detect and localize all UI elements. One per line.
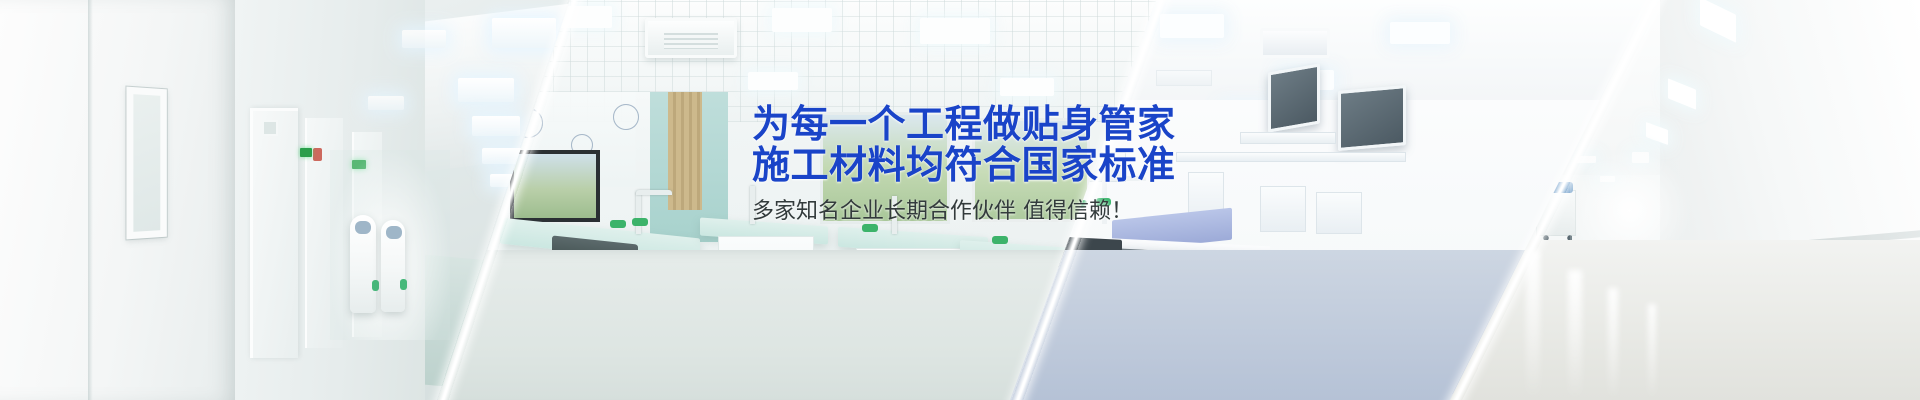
wall-cabinet (1338, 85, 1406, 151)
exit-sign (300, 148, 312, 157)
cassette-ac-unit (1260, 28, 1330, 58)
viewing-window (126, 87, 166, 240)
floor-reflection (1648, 304, 1656, 400)
reagent-cabinet (1316, 192, 1362, 234)
headline-line-2: 施工材料均符合国家标准 (752, 145, 1222, 186)
wall-shelf (1156, 70, 1212, 86)
wall-cabinet (1268, 63, 1320, 132)
worker-in-coverall (350, 215, 376, 313)
ceiling-light (1000, 78, 1054, 96)
cassette-ac-unit (645, 18, 737, 58)
floor-reflection (1526, 250, 1540, 400)
ceiling-light (1390, 22, 1450, 44)
reagent-cabinet (1260, 186, 1306, 232)
floor-reflection (1608, 288, 1618, 400)
gas-tap (632, 218, 648, 226)
gas-tap (610, 220, 626, 228)
faucet-arm (636, 190, 672, 195)
left-wall (0, 0, 235, 400)
cleanroom-door (250, 108, 298, 358)
hero-banner: 为每一个工程做贴身管家 施工材料均符合国家标准 多家知名企业长期合作伙伴 值得信… (0, 0, 1920, 400)
banner-subtitle: 多家知名企业长期合作伙伴 值得信赖！ (752, 197, 1222, 227)
faucet (636, 192, 641, 234)
gas-tap (992, 236, 1008, 244)
door-edge (88, 0, 93, 400)
fire-alarm-icon (313, 148, 322, 161)
worker-in-coverall (381, 220, 405, 312)
ceiling-light (772, 8, 832, 32)
banner-copy: 为每一个工程做贴身管家 施工材料均符合国家标准 多家知名企业长期合作伙伴 值得信… (752, 104, 1222, 227)
ceiling-light (748, 72, 798, 90)
wall-vent (262, 120, 278, 136)
wood-slat-panel (668, 92, 702, 210)
wall-shelf (1240, 132, 1336, 144)
ceiling-light (920, 18, 990, 44)
headline-line-1: 为每一个工程做贴身管家 (752, 104, 1222, 145)
ceiling-light (1160, 14, 1224, 38)
floor-reflection (1568, 270, 1582, 400)
